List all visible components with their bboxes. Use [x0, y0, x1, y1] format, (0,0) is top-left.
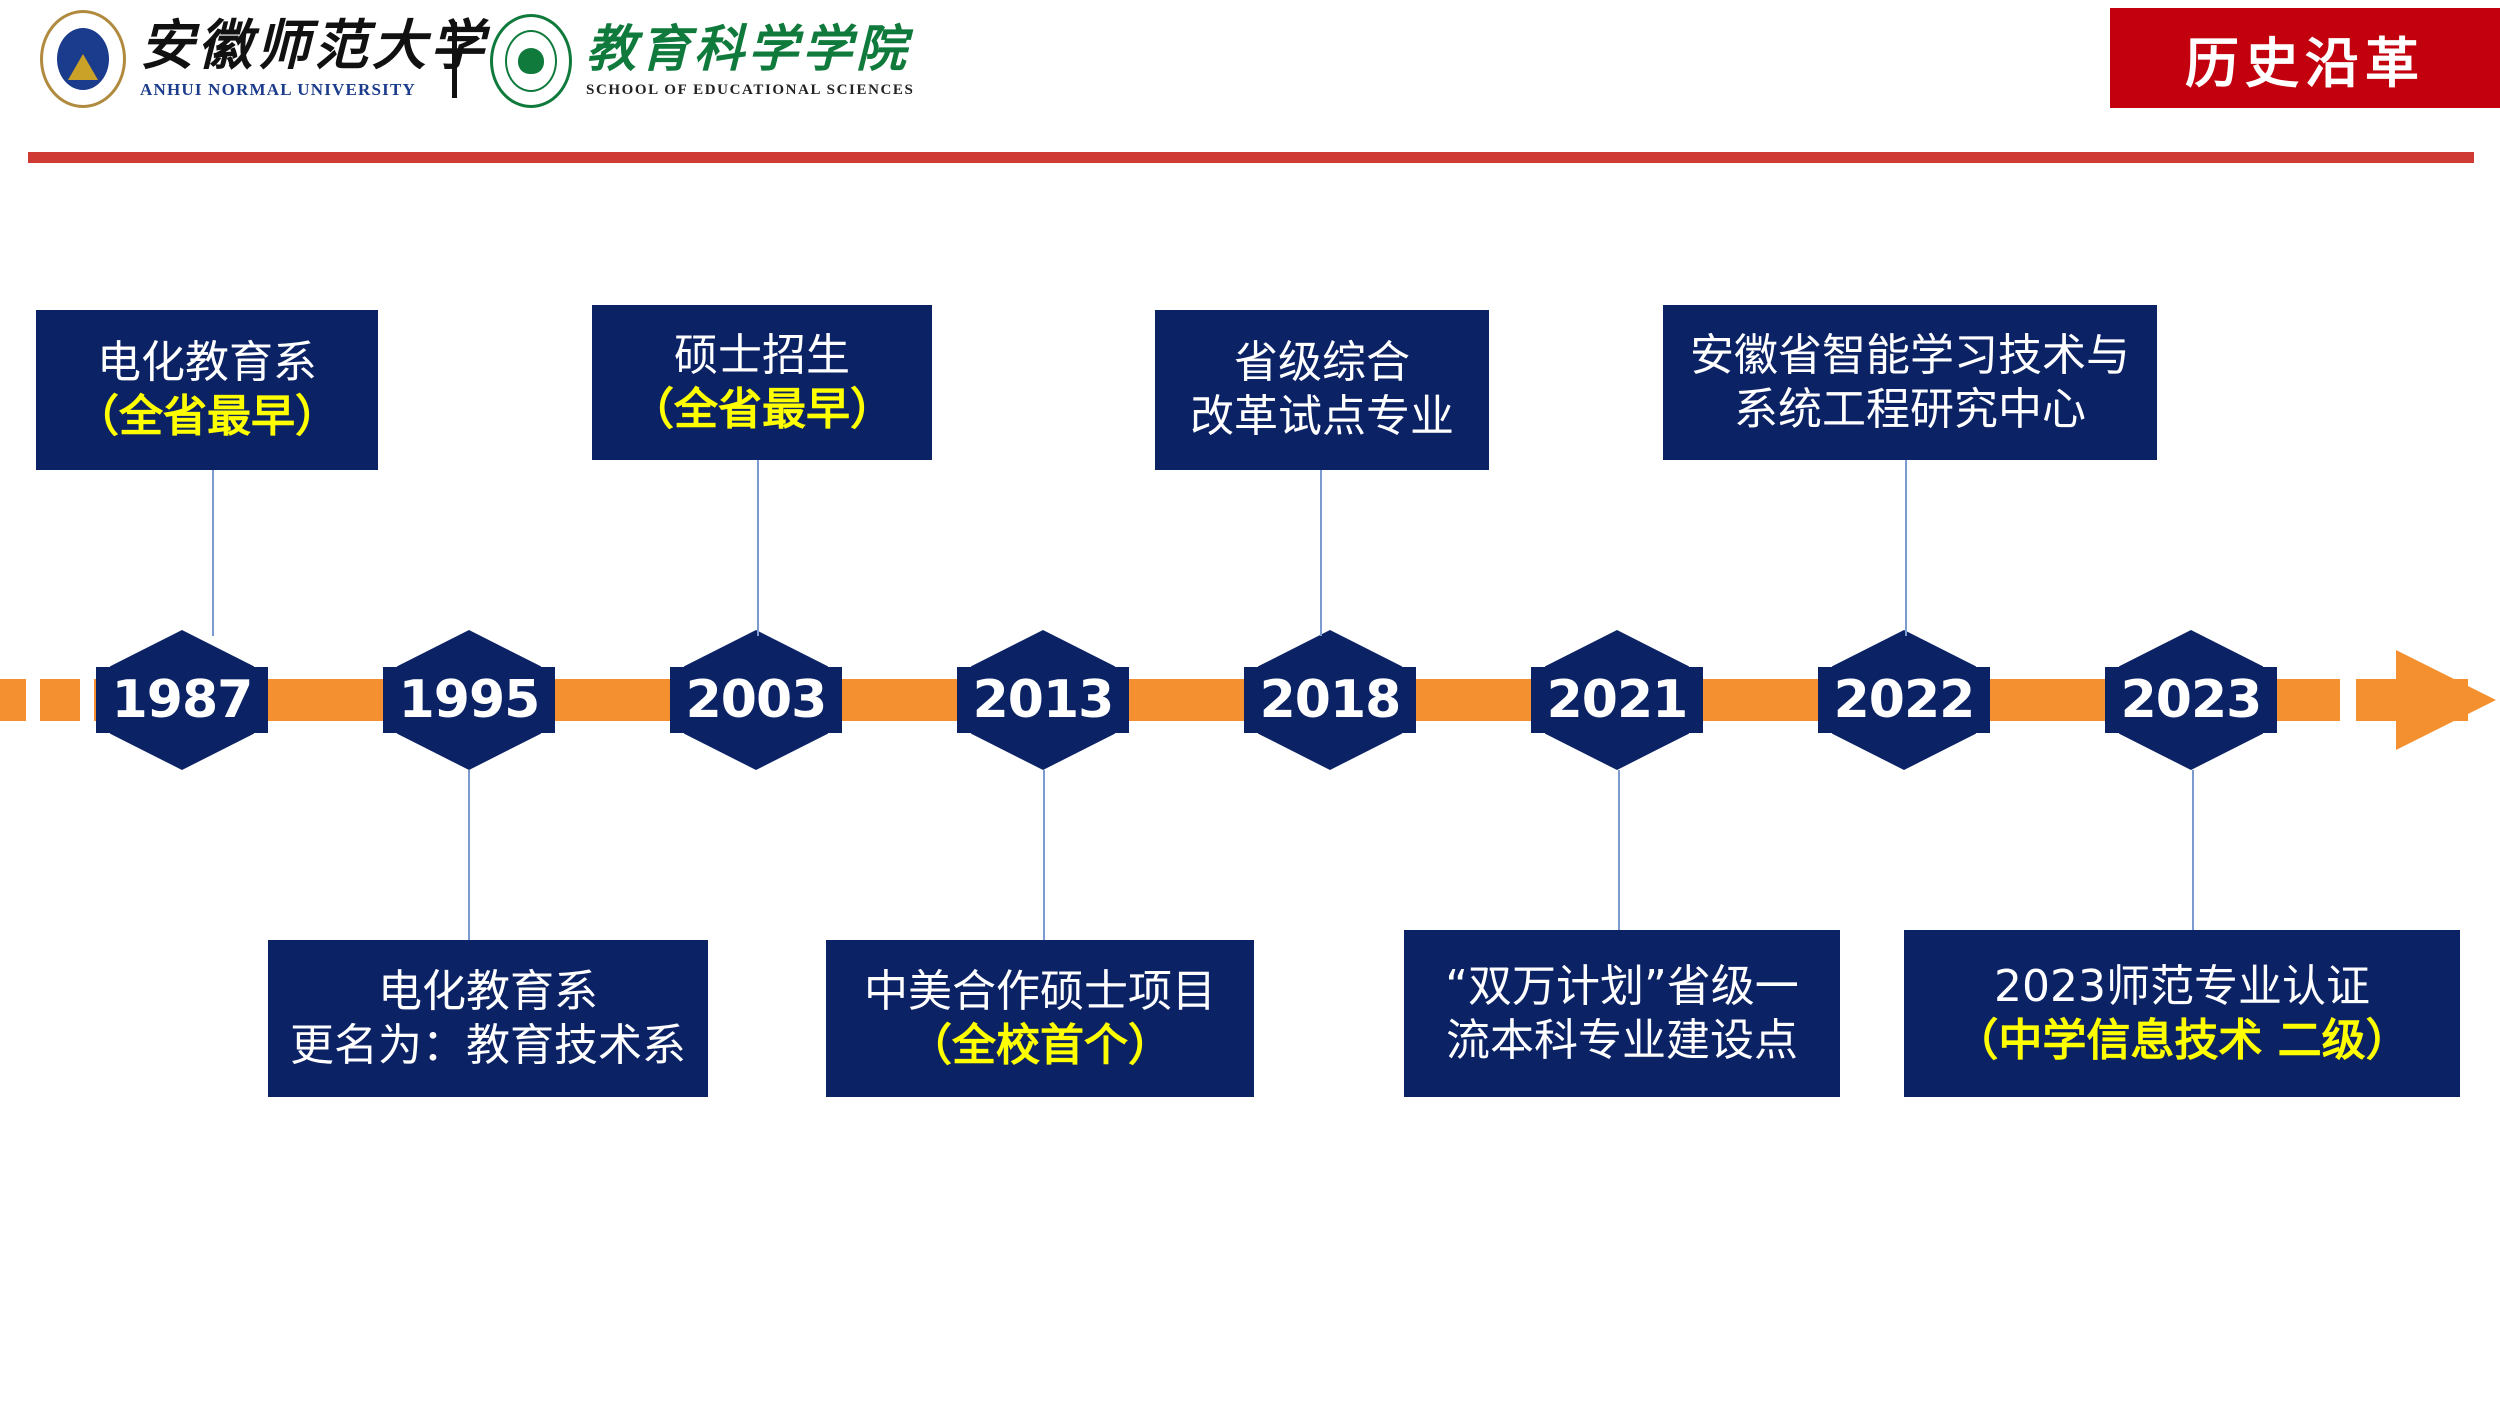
axis-dash-right-1 [2300, 679, 2340, 721]
callout-line-accent: （全省最早） [630, 383, 894, 437]
connector-2013 [1043, 770, 1045, 940]
callout-line: 更名为：教育技术系 [290, 1019, 686, 1073]
callout-2013[interactable]: 中美合作硕士项目 （全校首个） [826, 940, 1254, 1097]
year-label-2021: 2021 [1531, 667, 1703, 733]
callout-line: 中美合作硕士项目 [864, 965, 1216, 1019]
timeline-node-2018[interactable]: 2018 [1244, 630, 1416, 770]
timeline-graphic: 1987 1995 2003 2013 2018 2021 2022 2023 [0, 0, 2500, 1406]
timeline-node-2023[interactable]: 2023 [2105, 630, 2277, 770]
callout-line: 系统工程研究中心 [1734, 383, 2086, 437]
timeline-node-2003[interactable]: 2003 [670, 630, 842, 770]
connector-1987 [212, 470, 214, 636]
year-label-1987: 1987 [96, 667, 268, 733]
timeline-node-1995[interactable]: 1995 [383, 630, 555, 770]
connector-2021 [1618, 770, 1620, 940]
timeline-node-1987[interactable]: 1987 [96, 630, 268, 770]
callout-line: 省级综合 [1234, 336, 1410, 390]
axis-dash-left-1 [0, 679, 26, 721]
year-label-2018: 2018 [1244, 667, 1416, 733]
timeline-arrow-icon [2396, 650, 2496, 750]
callout-line-accent: （全省最早） [75, 390, 339, 444]
connector-2018 [1320, 470, 1322, 636]
year-label-2003: 2003 [670, 667, 842, 733]
axis-dash-left-2 [40, 679, 80, 721]
callout-2003[interactable]: 硕士招生 （全省最早） [592, 305, 932, 460]
timeline-node-2022[interactable]: 2022 [1818, 630, 1990, 770]
connector-2022 [1905, 460, 1907, 636]
callout-2023[interactable]: 2023师范专业认证 （中学信息技术 二级） [1904, 930, 2460, 1097]
connector-2003 [757, 460, 759, 636]
year-label-2022: 2022 [1818, 667, 1990, 733]
callout-1987[interactable]: 电化教育系 （全省最早） [36, 310, 378, 470]
callout-line: “双万计划”省级一 [1445, 960, 1799, 1014]
callout-line: 电化教育系 [97, 336, 317, 390]
callout-line-accent: （全校首个） [908, 1019, 1172, 1073]
callout-2022[interactable]: 安徽省智能学习技术与 系统工程研究中心 [1663, 305, 2157, 460]
callout-2021[interactable]: “双万计划”省级一 流本科专业建设点 [1404, 930, 1840, 1097]
year-label-2023: 2023 [2105, 667, 2277, 733]
callout-2018[interactable]: 省级综合 改革试点专业 [1155, 310, 1489, 470]
callout-1995[interactable]: 电化教育系 更名为：教育技术系 [268, 940, 708, 1097]
callout-line: 安徽省智能学习技术与 [1690, 329, 2130, 383]
callout-line: 2023师范专业认证 [1994, 960, 2370, 1014]
callout-line-accent: （中学信息技术 二级） [1954, 1014, 2409, 1068]
callout-line: 改革试点专业 [1190, 390, 1454, 444]
connector-1995 [468, 770, 470, 940]
timeline-node-2013[interactable]: 2013 [957, 630, 1129, 770]
timeline-node-2021[interactable]: 2021 [1531, 630, 1703, 770]
callout-line: 流本科专业建设点 [1446, 1014, 1798, 1068]
connector-2023 [2192, 770, 2194, 940]
year-label-1995: 1995 [383, 667, 555, 733]
year-label-2013: 2013 [957, 667, 1129, 733]
callout-line: 硕士招生 [674, 329, 850, 383]
callout-line: 电化教育系 [378, 965, 598, 1019]
